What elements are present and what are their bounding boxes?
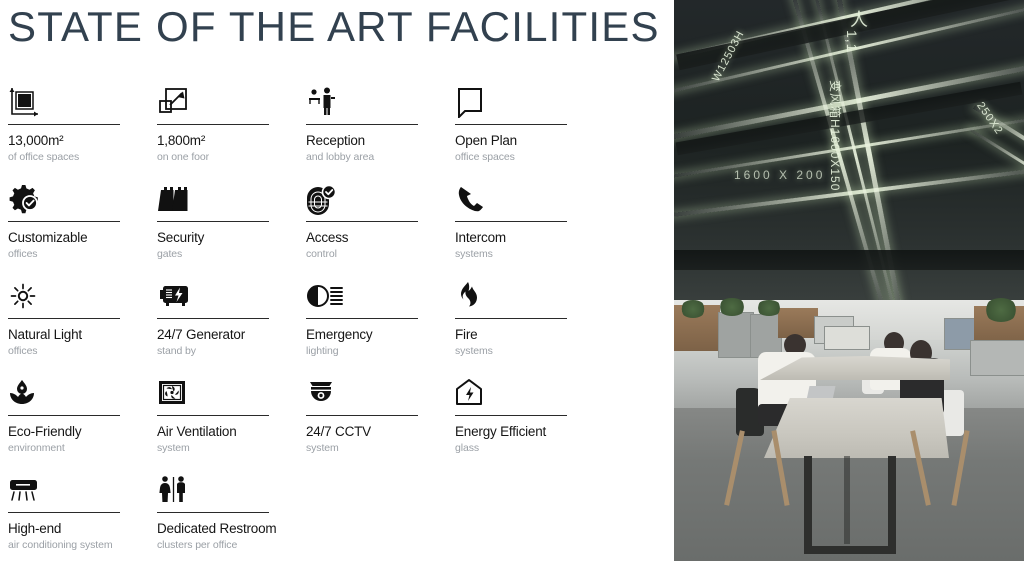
feature-label: Energy Efficient <box>455 424 567 440</box>
feature-label: Emergency <box>306 327 418 343</box>
plant <box>718 298 746 316</box>
sun-icon <box>8 272 120 312</box>
feature-item-floor-area[interactable]: 1,800m² on one foor <box>157 78 269 175</box>
divider <box>455 415 567 416</box>
divider <box>8 512 120 513</box>
feature-sublabel: offices <box>8 344 120 358</box>
feature-label: Fire <box>455 327 567 343</box>
feature-label: High-end <box>8 521 120 537</box>
feature-label: Air Ventilation <box>157 424 269 440</box>
feature-label: 24/7 CCTV <box>306 424 418 440</box>
features-grid: 13,000m² of office spaces 1,800m² <box>8 78 668 563</box>
feature-label: Customizable <box>8 230 120 246</box>
storage-unit <box>824 326 870 350</box>
ceiling-sign: 1,1 <box>844 30 860 52</box>
expand-floorplan-icon <box>157 78 269 118</box>
feature-sublabel: lighting <box>306 344 418 358</box>
feature-item-ventilation[interactable]: Air Ventilation system <box>157 369 269 466</box>
feature-item-restroom[interactable]: Dedicated Restroom clusters per office <box>157 466 269 563</box>
feature-label: 13,000m² <box>8 133 120 149</box>
plant <box>680 300 706 318</box>
feature-row: 13,000m² of office spaces 1,800m² <box>8 78 668 175</box>
gear-check-icon <box>8 175 120 215</box>
feature-sublabel: office spaces <box>455 150 567 164</box>
table-leg <box>804 456 812 554</box>
feature-label: 1,800m² <box>157 133 269 149</box>
divider <box>455 221 567 222</box>
desk-partition <box>970 340 1024 376</box>
feature-item-reception[interactable]: Reception and lobby area <box>306 78 418 175</box>
feature-sublabel: glass <box>455 441 567 455</box>
divider <box>8 221 120 222</box>
feature-sublabel: clusters per office <box>157 538 269 552</box>
feature-item-intercom[interactable]: Intercom systems <box>455 175 567 272</box>
divider <box>306 124 418 125</box>
feature-item-area[interactable]: 13,000m² of office spaces <box>8 78 120 175</box>
feature-label: Access <box>306 230 418 246</box>
phone-handset-icon <box>455 175 567 215</box>
divider <box>306 318 418 319</box>
facilities-slide: STATE OF THE ART FACILITIES <box>0 0 1024 561</box>
feature-sublabel: offices <box>8 247 120 261</box>
leaf-drop-icon <box>8 369 120 409</box>
divider <box>157 512 269 513</box>
ceiling-sign: 人 <box>850 6 869 32</box>
table-base <box>804 546 896 554</box>
ventilation-fan-icon <box>157 369 269 409</box>
reception-desk-icon <box>306 78 418 118</box>
feature-item-open-plan[interactable]: Open Plan office spaces <box>455 78 567 175</box>
feature-label: Security <box>157 230 269 246</box>
feature-sublabel: on one foor <box>157 150 269 164</box>
divider <box>8 415 120 416</box>
divider <box>157 415 269 416</box>
divider <box>157 318 269 319</box>
area-measure-icon <box>8 78 120 118</box>
feature-item-customizable[interactable]: Customizable offices <box>8 175 120 272</box>
feature-row: Natural Light offices <box>8 272 668 369</box>
feature-label: Reception <box>306 133 418 149</box>
divider <box>306 221 418 222</box>
generator-bolt-icon <box>157 272 269 312</box>
feature-sublabel: system <box>157 441 269 455</box>
plant <box>756 300 782 316</box>
feature-row: Customizable offices Security gates <box>8 175 668 272</box>
feature-item-generator[interactable]: 24/7 Generator stand by <box>157 272 269 369</box>
feature-label: 24/7 Generator <box>157 327 269 343</box>
emergency-light-icon <box>306 272 418 312</box>
feature-row: Eco-Friendly environment <box>8 369 668 466</box>
ceiling-beam <box>674 250 1024 270</box>
feature-sublabel: and lobby area <box>306 150 418 164</box>
ceiling-sign: 变风箱H1600X150 <box>827 80 844 191</box>
feature-sublabel: environment <box>8 441 120 455</box>
divider <box>306 415 418 416</box>
feature-label: Natural Light <box>8 327 120 343</box>
divider <box>157 221 269 222</box>
feature-sublabel: control <box>306 247 418 261</box>
desk-partition <box>718 312 754 358</box>
feature-label: Dedicated Restroom <box>157 521 269 537</box>
feature-item-security[interactable]: Security gates <box>157 175 269 272</box>
restroom-icon <box>157 466 269 506</box>
plant <box>984 298 1018 322</box>
security-gate-icon <box>157 175 269 215</box>
feature-sublabel: systems <box>455 344 567 358</box>
ceiling-sign: 1600 X 200 <box>734 168 825 182</box>
divider <box>455 124 567 125</box>
feature-item-air-conditioning[interactable]: High-end air conditioning system <box>8 466 120 563</box>
feature-sublabel: stand by <box>157 344 269 358</box>
feature-item-natural-light[interactable]: Natural Light offices <box>8 272 120 369</box>
table-leg <box>844 456 850 544</box>
speech-square-icon <box>455 78 567 118</box>
feature-sublabel: gates <box>157 247 269 261</box>
feature-row: High-end air conditioning system <box>8 466 668 563</box>
feature-item-cctv[interactable]: 24/7 CCTV system <box>306 369 418 466</box>
dome-camera-icon <box>306 369 418 409</box>
feature-item-eco-friendly[interactable]: Eco-Friendly environment <box>8 369 120 466</box>
divider <box>8 124 120 125</box>
feature-item-emergency[interactable]: Emergency lighting <box>306 272 418 369</box>
feature-label: Eco-Friendly <box>8 424 120 440</box>
fingerprint-check-icon <box>306 175 418 215</box>
page-title: STATE OF THE ART FACILITIES <box>8 2 660 52</box>
flame-icon <box>455 272 567 312</box>
feature-item-access[interactable]: Access control <box>306 175 418 272</box>
divider <box>157 124 269 125</box>
feature-sublabel: system <box>306 441 418 455</box>
feature-item-energy-efficient[interactable]: Energy Efficient glass <box>455 369 567 466</box>
feature-sublabel: systems <box>455 247 567 261</box>
feature-item-fire[interactable]: Fire systems <box>455 272 567 369</box>
feature-label: Open Plan <box>455 133 567 149</box>
divider <box>455 318 567 319</box>
air-conditioner-icon <box>8 466 120 506</box>
divider <box>8 318 120 319</box>
house-bolt-icon <box>455 369 567 409</box>
feature-sublabel: air conditioning system <box>8 538 120 552</box>
open-plan-office-photo: 变风箱H1600X150 W12503H 250X2 1600 X 200 人 … <box>674 0 1024 561</box>
laptop <box>807 386 836 400</box>
feature-sublabel: of office spaces <box>8 150 120 164</box>
table-leg <box>888 456 896 554</box>
feature-label: Intercom <box>455 230 567 246</box>
content-panel: STATE OF THE ART FACILITIES <box>0 0 674 561</box>
table-top <box>764 398 949 458</box>
